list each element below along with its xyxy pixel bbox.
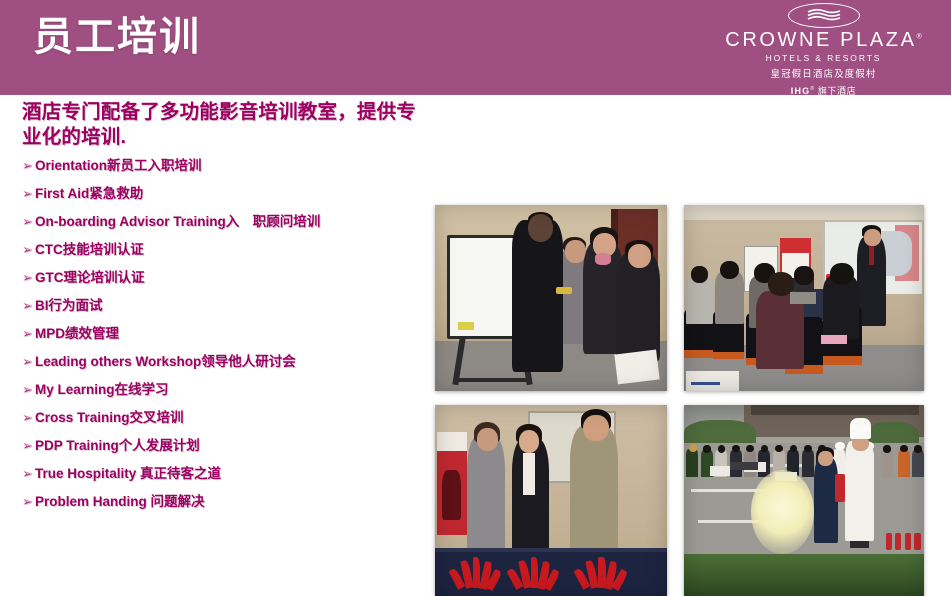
photo-napkin-folding: [435, 405, 667, 596]
list-item-label: CTC技能培训认证: [35, 242, 144, 257]
logo-ihg-mark: ®: [810, 86, 814, 92]
slide-body: 酒店专门配备了多功能影音培训教室，提供专业化的培训. ➢Orientation新…: [0, 95, 951, 530]
photo-classroom-presentation: [684, 205, 924, 391]
list-item-label: Problem Handing 问题解决: [35, 494, 205, 509]
list-item-label: First Aid紧急救助: [35, 186, 143, 201]
photo-whiteboard-coaching: [435, 205, 667, 391]
list-item-label: True Hospitality 真正待客之道: [35, 466, 221, 481]
bullet-marker-icon: ➢: [22, 494, 33, 510]
list-item: ➢CTC技能培训认证: [22, 242, 437, 270]
photo-vignette: [435, 405, 667, 596]
logo-registered-mark: ®: [917, 33, 922, 40]
list-item: ➢Cross Training交叉培训: [22, 410, 437, 438]
photo-vignette: [684, 405, 924, 596]
bullet-marker-icon: ➢: [22, 410, 33, 426]
photo-fire-extinguisher-drill: [684, 405, 924, 596]
bullet-marker-icon: ➢: [22, 438, 33, 454]
list-item: ➢First Aid紧急救助: [22, 186, 437, 214]
list-item: ➢PDP Training个人发展计划: [22, 438, 437, 466]
page-title: 员工培训: [33, 14, 201, 60]
bullet-marker-icon: ➢: [22, 214, 33, 230]
crown-emblem-icon: [788, 3, 860, 28]
bullet-marker-icon: ➢: [22, 242, 33, 258]
logo-brand-text: CROWNE PLAZA: [725, 29, 916, 51]
list-item: ➢Problem Handing 问题解决: [22, 494, 437, 522]
list-item-label: PDP Training个人发展计划: [35, 438, 200, 453]
list-item-label: Cross Training交叉培训: [35, 410, 184, 425]
lead-paragraph: 酒店专门配备了多功能影音培训教室，提供专业化的培训.: [22, 100, 432, 151]
bullet-marker-icon: ➢: [22, 466, 33, 482]
bullet-marker-icon: ➢: [22, 158, 33, 174]
list-item: ➢On-boarding Advisor Training入 职顾问培训: [22, 214, 437, 242]
bullet-marker-icon: ➢: [22, 298, 33, 314]
list-item: ➢Orientation新员工入职培训: [22, 158, 437, 186]
list-item-label: Orientation新员工入职培训: [35, 158, 202, 173]
bullet-marker-icon: ➢: [22, 186, 33, 202]
bullet-marker-icon: ➢: [22, 354, 33, 370]
training-program-list: ➢Orientation新员工入职培训 ➢First Aid紧急救助 ➢On-b…: [22, 158, 437, 522]
slide-header: 员工培训 CROWNE PLAZA® HOTELS & RESORTS 皇冠假日…: [0, 0, 951, 95]
photo-vignette: [435, 205, 667, 391]
list-item-label: On-boarding Advisor Training入 职顾问培训: [35, 214, 320, 229]
list-item: ➢My Learning在线学习: [22, 382, 437, 410]
list-item-label: Leading others Workshop领导他人研讨会: [35, 354, 296, 369]
list-item-label: MPD绩效管理: [35, 326, 119, 341]
list-item-label: GTC理论培训认证: [35, 270, 145, 285]
list-item-label: BI行为面试: [35, 298, 103, 313]
list-item: ➢GTC理论培训认证: [22, 270, 437, 298]
bullet-marker-icon: ➢: [22, 326, 33, 342]
list-item: ➢BI行为面试: [22, 298, 437, 326]
logo-chinese-name: 皇冠假日酒店及度假村: [716, 66, 931, 80]
photo-vignette: [684, 205, 924, 391]
bullet-marker-icon: ➢: [22, 270, 33, 286]
logo-tagline: HOTELS & RESORTS: [716, 53, 931, 63]
list-item: ➢MPD绩效管理: [22, 326, 437, 354]
logo-brand-name: CROWNE PLAZA®: [716, 30, 931, 51]
bullet-marker-icon: ➢: [22, 382, 33, 398]
crowne-plaza-logo: CROWNE PLAZA® HOTELS & RESORTS 皇冠假日酒店及度假…: [716, 3, 931, 97]
list-item: ➢Leading others Workshop领导他人研讨会: [22, 354, 437, 382]
list-item-label: My Learning在线学习: [35, 382, 169, 397]
list-item: ➢True Hospitality 真正待客之道: [22, 466, 437, 494]
